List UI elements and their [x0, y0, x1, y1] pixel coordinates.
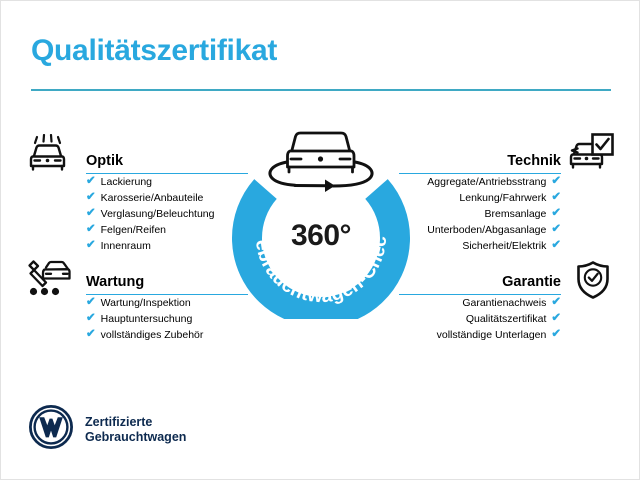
list-item-label: Karosserie/Anbauteile — [101, 190, 204, 206]
check-icon: ✔ — [86, 176, 96, 188]
title-divider — [31, 89, 611, 91]
list-item-label: Wartung/Inspektion — [101, 295, 191, 311]
list-item-label: vollständiges Zubehör — [101, 327, 204, 343]
footer-text: ZertifizierteGebrauchtwagen — [85, 415, 186, 445]
section-optik: Optik ✔ Lackierung ✔ Karosserie/Anbautei… — [86, 144, 248, 254]
list-item: ✔ Wartung/Inspektion — [86, 295, 248, 311]
360-check-badge: Gebrauchtwagen-Check 360° — [229, 119, 413, 319]
list-item-label: Lackierung — [101, 174, 152, 190]
car-checkbox-icon — [569, 132, 615, 177]
check-icon: ✔ — [86, 208, 96, 220]
list-item-label: Aggregate/Antriebsstrang — [427, 174, 546, 190]
section-wartung-header: Wartung — [86, 265, 248, 295]
section-optik-list: ✔ Lackierung ✔ Karosserie/Anbauteile ✔ V… — [86, 174, 248, 254]
check-icon: ✔ — [551, 208, 561, 220]
section-wartung-list: ✔ Wartung/Inspektion ✔ Hauptuntersuchung… — [86, 295, 248, 343]
section-wartung: Wartung ✔ Wartung/Inspektion ✔ Hauptunte… — [86, 265, 248, 343]
section-optik-divider — [86, 173, 248, 175]
check-icon: ✔ — [551, 313, 561, 325]
section-optik-header: Optik — [86, 144, 248, 174]
list-item: ✔ Karosserie/Anbauteile — [86, 190, 248, 206]
section-technik-title: Technik — [507, 153, 561, 169]
section-garantie-list: Garantienachweis ✔ Qualitätszertifikat ✔… — [399, 295, 561, 343]
list-item: ✔ Lackierung — [86, 174, 248, 190]
badge-center-label: 360° — [229, 219, 413, 253]
check-icon: ✔ — [551, 329, 561, 341]
section-optik-title: Optik — [86, 153, 123, 169]
footer-line-1: Zertifizierte — [85, 415, 152, 429]
list-item-label: Sicherheit/Elektrik — [462, 238, 546, 254]
section-garantie: Garantie Garantienachweis ✔ Qualitätszer… — [399, 265, 561, 343]
car-service-tool-icon — [25, 259, 73, 304]
list-item: Bremsanlage ✔ — [399, 206, 561, 222]
section-wartung-divider — [86, 294, 248, 296]
list-item-label: Garantienachweis — [462, 295, 546, 311]
list-item-label: Hauptuntersuchung — [101, 311, 193, 327]
section-garantie-divider — [399, 294, 561, 296]
check-icon: ✔ — [86, 313, 96, 325]
check-icon: ✔ — [86, 240, 96, 252]
section-garantie-title: Garantie — [502, 274, 561, 290]
check-icon: ✔ — [86, 192, 96, 204]
section-technik-list: Aggregate/Antriebsstrang ✔ Lenkung/Fahrw… — [399, 174, 561, 254]
check-icon: ✔ — [551, 224, 561, 236]
list-item: Sicherheit/Elektrik ✔ — [399, 238, 561, 254]
list-item: ✔ Felgen/Reifen — [86, 222, 248, 238]
section-wartung-title: Wartung — [86, 274, 144, 290]
section-technik-header: Technik — [399, 144, 561, 174]
list-item-label: Qualitätszertifikat — [466, 311, 547, 327]
list-item: Aggregate/Antriebsstrang ✔ — [399, 174, 561, 190]
certificate-page: Qualitätszertifikat Optik — [0, 0, 640, 480]
list-item: ✔ vollständiges Zubehör — [86, 327, 248, 343]
list-item: ✔ Verglasung/Beleuchtung — [86, 206, 248, 222]
list-item-label: Innenraum — [101, 238, 151, 254]
check-icon: ✔ — [551, 176, 561, 188]
list-item-label: Felgen/Reifen — [101, 222, 166, 238]
section-garantie-header: Garantie — [399, 265, 561, 295]
list-item-label: vollständige Unterlagen — [437, 327, 547, 343]
vw-footer: ZertifizierteGebrauchtwagen — [29, 405, 186, 454]
section-technik-divider — [399, 173, 561, 175]
list-item-label: Unterboden/Abgasanlage — [427, 222, 546, 238]
list-item: ✔ Hauptuntersuchung — [86, 311, 248, 327]
list-item: ✔ Innenraum — [86, 238, 248, 254]
list-item-label: Lenkung/Fahrwerk — [459, 190, 546, 206]
list-item: vollständige Unterlagen ✔ — [399, 327, 561, 343]
car-rotation-icon — [270, 133, 372, 192]
list-item: Qualitätszertifikat ✔ — [399, 311, 561, 327]
check-icon: ✔ — [86, 297, 96, 309]
check-icon: ✔ — [86, 224, 96, 236]
car-shine-icon — [26, 134, 72, 177]
shield-check-icon — [574, 260, 612, 305]
check-icon: ✔ — [86, 329, 96, 341]
footer-line-2: Gebrauchtwagen — [85, 430, 186, 444]
list-item-label: Verglasung/Beleuchtung — [101, 206, 215, 222]
list-item-label: Bremsanlage — [484, 206, 546, 222]
vw-logo — [29, 405, 73, 454]
list-item: Lenkung/Fahrwerk ✔ — [399, 190, 561, 206]
check-icon: ✔ — [551, 192, 561, 204]
list-item: Unterboden/Abgasanlage ✔ — [399, 222, 561, 238]
check-icon: ✔ — [551, 297, 561, 309]
check-icon: ✔ — [551, 240, 561, 252]
page-title: Qualitätszertifikat — [31, 34, 277, 68]
list-item: Garantienachweis ✔ — [399, 295, 561, 311]
section-technik: Technik Aggregate/Antriebsstrang ✔ Lenku… — [399, 144, 561, 254]
